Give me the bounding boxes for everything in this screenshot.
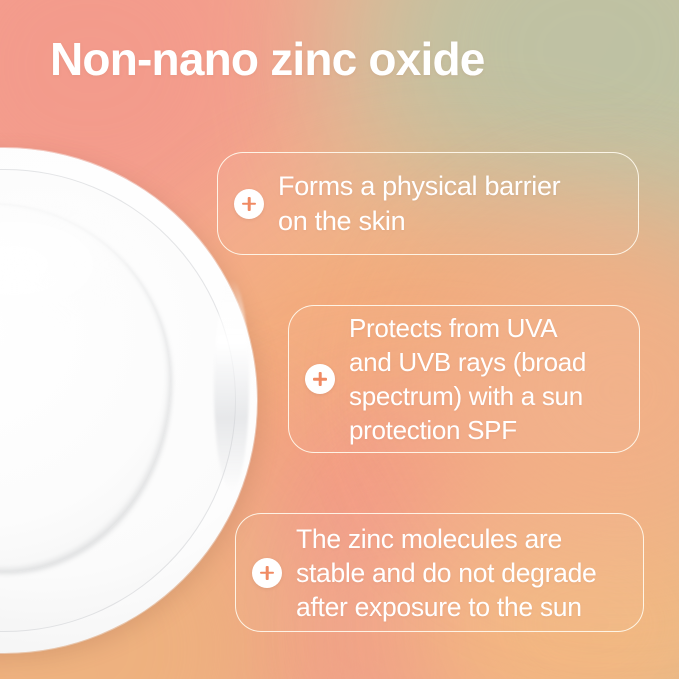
feature-card-1-line-1: Forms a physical barrier [278, 169, 560, 204]
feature-card-2-line-3: spectrum) with a sun [349, 379, 586, 413]
feature-card-3-line-1: The zinc molecules are [296, 522, 596, 556]
product-jar-edge-highlight [214, 279, 249, 491]
plus-icon [234, 189, 264, 219]
feature-card-2: Protects from UVA and UVB rays (broad sp… [288, 305, 640, 453]
feature-card-1: Forms a physical barrier on the skin [217, 152, 639, 255]
feature-card-3-text: The zinc molecules are stable and do not… [296, 522, 596, 624]
plus-icon [305, 364, 335, 394]
feature-card-3-line-2: stable and do not degrade [296, 556, 596, 590]
page-title: Non-nano zinc oxide [50, 30, 485, 88]
infographic-canvas: Non-nano zinc oxide Forms a physical bar… [0, 0, 679, 679]
feature-card-2-text: Protects from UVA and UVB rays (broad sp… [349, 311, 586, 447]
feature-card-2-line-2: and UVB rays (broad [349, 345, 586, 379]
feature-card-1-line-2: on the skin [278, 204, 560, 239]
feature-card-3-line-3: after exposure to the sun [296, 590, 596, 624]
plus-icon [252, 558, 282, 588]
feature-card-3: The zinc molecules are stable and do not… [235, 513, 644, 632]
feature-card-2-line-1: Protects from UVA [349, 311, 586, 345]
feature-card-2-line-4: protection SPF [349, 413, 586, 447]
feature-card-1-text: Forms a physical barrier on the skin [278, 169, 560, 239]
